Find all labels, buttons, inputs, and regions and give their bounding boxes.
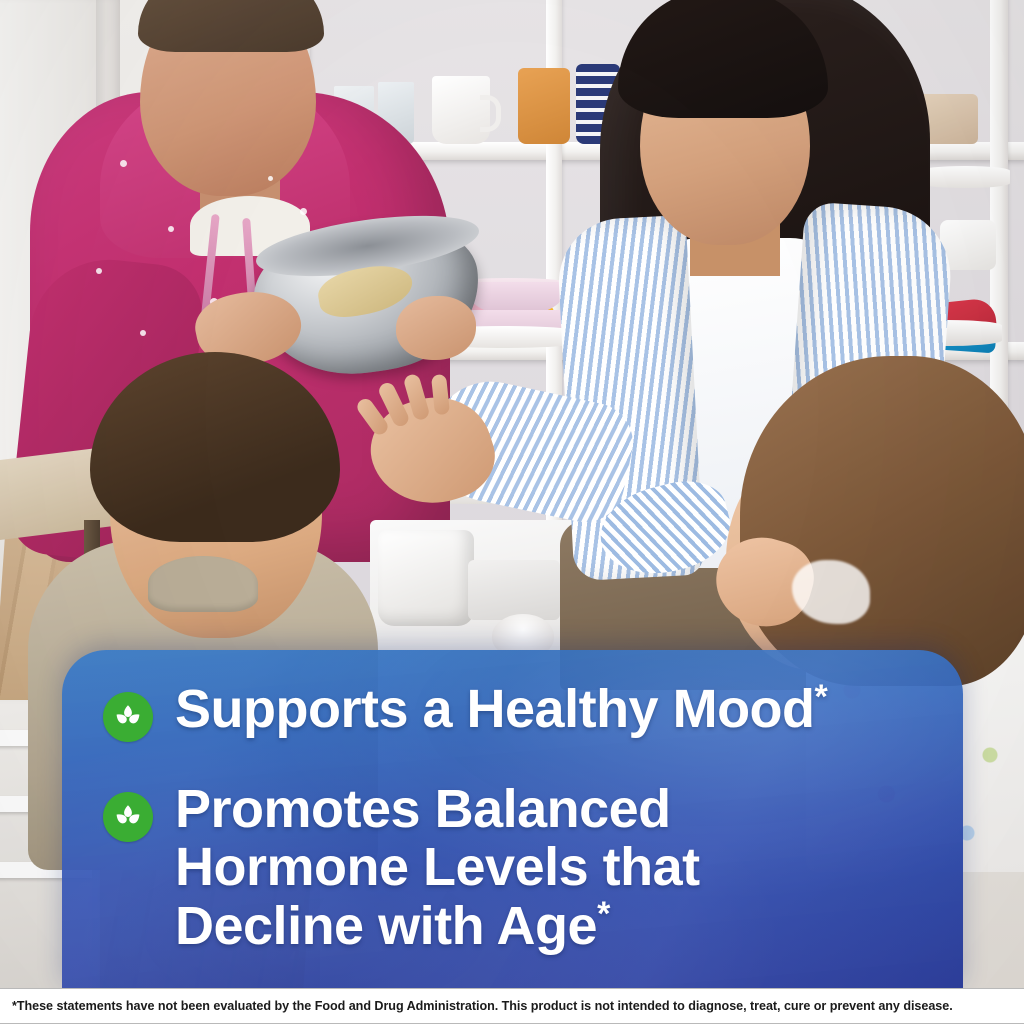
white-pot	[378, 530, 474, 626]
benefit-text-2: Promotes BalancedHormone Levels thatDecl…	[175, 780, 700, 955]
man-hair	[138, 0, 324, 52]
benefits-panel: Supports a Healthy Mood* Promotes Balanc…	[62, 650, 963, 988]
kitchen-scale	[468, 560, 560, 620]
white-mug	[432, 76, 490, 144]
benefit-text-1: Supports a Healthy Mood*	[175, 680, 827, 738]
benefit-line: Promotes Balanced	[175, 779, 671, 839]
girl-hair	[740, 356, 1024, 686]
disclaimer-text: *These statements have not been evaluate…	[12, 999, 953, 1013]
benefits-list: Supports a Healthy Mood* Promotes Balanc…	[62, 650, 963, 955]
man-right-hand	[396, 296, 476, 360]
disclaimer-bar: *These statements have not been evaluate…	[0, 988, 1024, 1024]
shelf-plate-top	[920, 166, 1010, 188]
benefit-line: Decline with Age	[175, 896, 597, 956]
benefit-line: Hormone Levels that	[175, 837, 700, 897]
benefit-item-1: Supports a Healthy Mood*	[103, 680, 963, 742]
product-lifestyle-banner: Supports a Healthy Mood* Promotes Balanc…	[0, 0, 1024, 1024]
footnote-marker: *	[597, 895, 610, 933]
footnote-marker: *	[815, 678, 828, 716]
boy-collar	[148, 556, 258, 612]
leaf-icon	[103, 792, 153, 842]
leaf-icon	[103, 692, 153, 742]
woman-hair-front	[618, 0, 828, 118]
amber-jar	[518, 68, 570, 144]
benefit-line: Supports a Healthy Mood	[175, 679, 815, 739]
benefit-item-2: Promotes BalancedHormone Levels thatDecl…	[103, 780, 963, 955]
